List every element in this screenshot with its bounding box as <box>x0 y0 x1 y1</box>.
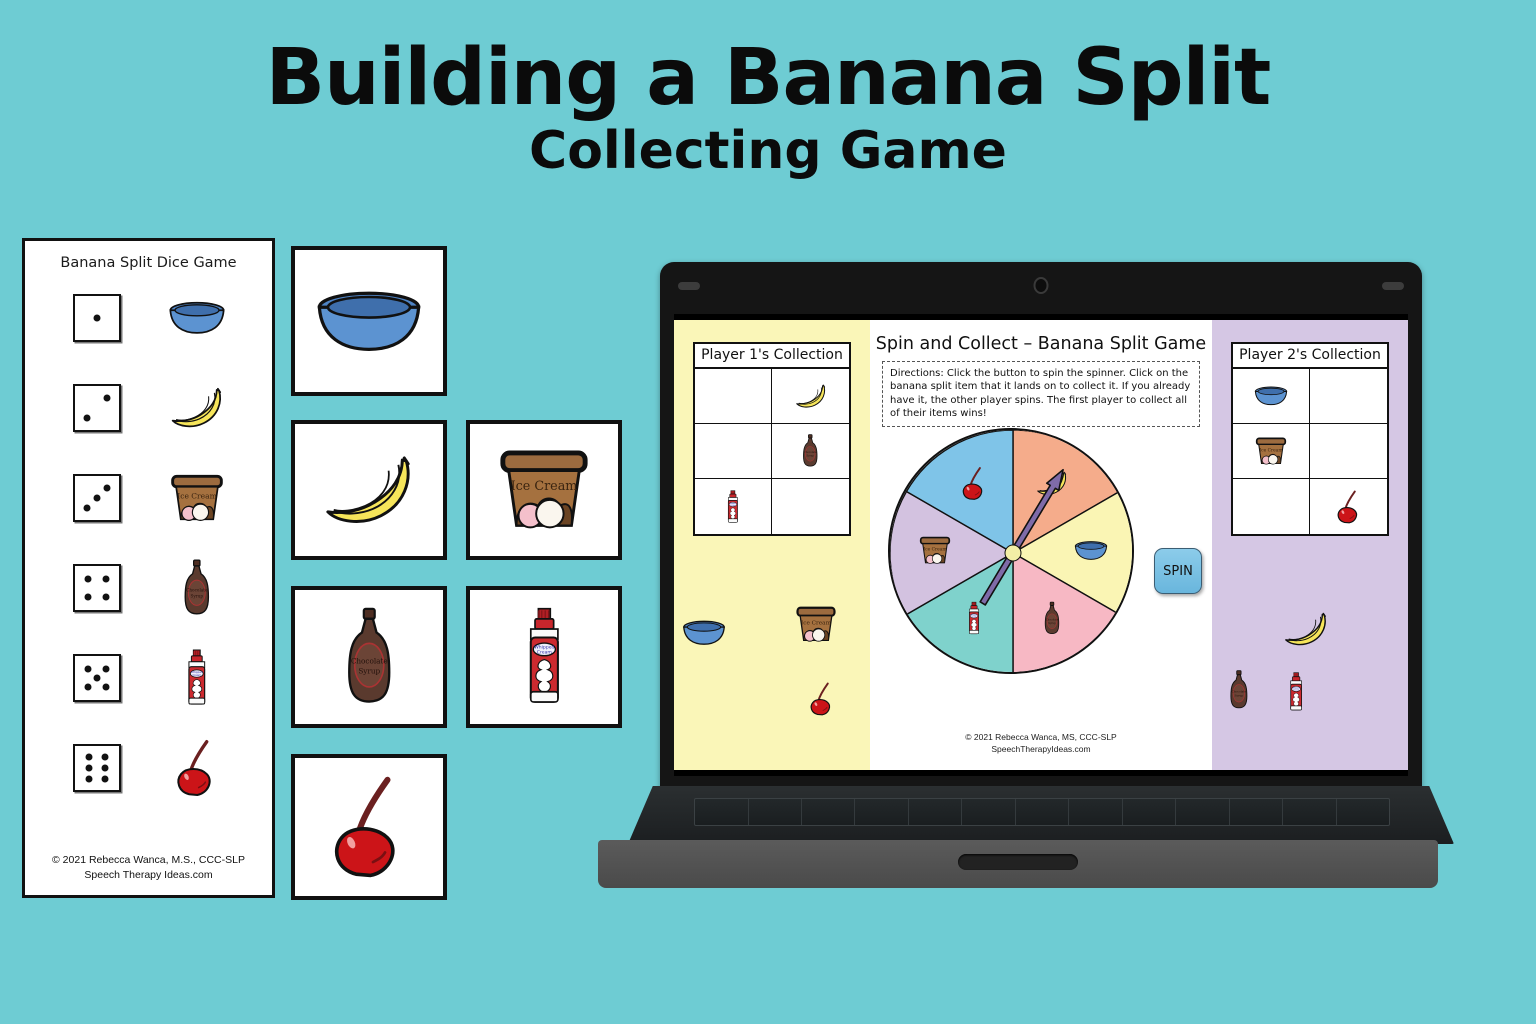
player1-loose-ice-cream[interactable] <box>794 606 838 648</box>
keyboard-key-column <box>962 799 1015 825</box>
speaker-grille-left <box>678 282 700 290</box>
keyboard-key-column <box>802 799 855 825</box>
keyboard-key-column <box>1016 799 1069 825</box>
banana-icon <box>1282 612 1330 647</box>
laptop-screen: Player 1's Collection Spin and Collect –… <box>674 314 1408 776</box>
ice-cream-icon <box>794 606 838 643</box>
spinner-icon-chocolate-syrup[interactable] <box>1043 601 1062 640</box>
laptop-lid: Player 1's Collection Spin and Collect –… <box>660 262 1422 794</box>
player2-heading: Player 2's Collection <box>1233 344 1387 369</box>
dice-row <box>25 365 272 451</box>
flash-card-banana[interactable] <box>291 420 447 560</box>
ice-cream-icon <box>168 474 226 523</box>
flash-card-cherry[interactable] <box>291 754 447 900</box>
dice-row-item-cherry <box>121 739 272 797</box>
cherry-icon <box>173 739 220 797</box>
laptop-mockup: Player 1's Collection Spin and Collect –… <box>588 262 1448 872</box>
chocolate-syrup-icon <box>1228 670 1250 710</box>
keyboard-key-column <box>749 799 802 825</box>
flash-card-chocolate-syrup[interactable] <box>291 586 447 728</box>
player2-collection-grid <box>1233 369 1387 534</box>
ice-cream-icon <box>495 449 593 531</box>
dice-game-sheet: Banana Split Dice Game © 2021 Rebecca Wa… <box>22 238 275 898</box>
die-pip <box>101 754 108 761</box>
app-credit-line-1: © 2021 Rebecca Wanca, MS, CCC-SLP <box>870 731 1212 744</box>
die-pip <box>102 593 109 600</box>
directions-box: Directions: Click the button to spin the… <box>882 361 1200 427</box>
die-face-6 <box>73 744 121 792</box>
whipped-cream-icon <box>524 607 565 707</box>
die-pip <box>102 683 109 690</box>
player1-collection-grid <box>695 369 849 534</box>
player2-loose-banana[interactable] <box>1282 612 1330 652</box>
chocolate-syrup-icon <box>801 434 820 468</box>
player1-collection-table: Player 1's Collection <box>693 342 851 536</box>
ice-cream-icon <box>1254 437 1288 466</box>
spinner-icon-bowl[interactable] <box>1074 541 1108 566</box>
player2-cell-6-cherry[interactable] <box>1310 479 1387 534</box>
spinner-icon-whipped-cream[interactable] <box>967 601 981 640</box>
keyboard-key-column <box>909 799 962 825</box>
spin-button[interactable]: SPIN <box>1154 548 1202 594</box>
app-credit: © 2021 Rebecca Wanca, MS, CCC-SLP Speech… <box>870 731 1212 757</box>
player1-loose-bowl[interactable] <box>682 620 726 651</box>
bowl-icon <box>315 290 423 353</box>
keyboard-key-column <box>695 799 748 825</box>
player2-cell-4-empty[interactable] <box>1310 424 1387 479</box>
speaker-grille-right <box>1382 282 1404 290</box>
keyboard-key-column <box>855 799 908 825</box>
die-face-5 <box>73 654 121 702</box>
dice-row-list <box>25 275 272 811</box>
player1-heading: Player 1's Collection <box>695 344 849 369</box>
die-pip <box>86 775 93 782</box>
spinner-hub <box>1005 545 1022 562</box>
player2-cell-3-ice-cream[interactable] <box>1233 424 1310 479</box>
whipped-cream-icon <box>185 649 209 707</box>
dice-sheet-credit: © 2021 Rebecca Wanca, M.S., CCC-SLP Spee… <box>25 853 272 883</box>
dice-sheet-title: Banana Split Dice Game <box>25 255 272 271</box>
keyboard-key-column <box>1283 799 1336 825</box>
dice-row-item-chocolate-syrup <box>121 559 272 617</box>
keyboard-key-column <box>1337 799 1389 825</box>
cherry-icon <box>327 775 412 879</box>
die-pip <box>84 414 91 421</box>
dice-row <box>25 635 272 721</box>
flash-card-bowl[interactable] <box>291 246 447 396</box>
keyboard-key-column <box>1230 799 1283 825</box>
banana-icon <box>794 384 828 409</box>
cherry-icon <box>1335 490 1363 524</box>
laptop-front-notch <box>958 854 1078 870</box>
dice-row-item-bowl <box>121 301 272 335</box>
spinner-area[interactable] <box>888 428 1138 678</box>
dice-row <box>25 545 272 631</box>
player1-panel: Player 1's Collection <box>674 320 870 770</box>
whipped-cream-icon <box>967 601 981 635</box>
die-pip <box>102 576 109 583</box>
game-app: Player 1's Collection Spin and Collect –… <box>674 320 1408 770</box>
dice-row <box>25 455 272 541</box>
die-pip <box>102 666 109 673</box>
die-pip <box>86 765 93 772</box>
chocolate-syrup-icon <box>342 607 397 707</box>
keyboard-key-column <box>1069 799 1122 825</box>
die-pip <box>94 315 101 322</box>
player1-cell-4-chocolate-syrup[interactable] <box>772 424 849 479</box>
cherry-icon <box>808 682 836 716</box>
page-subtitle: Collecting Game <box>0 124 1536 179</box>
die-pip <box>101 775 108 782</box>
keyboard-key-column <box>1176 799 1229 825</box>
die-pip <box>85 683 92 690</box>
bowl-icon <box>1254 386 1288 406</box>
player2-collection-table: Player 2's Collection <box>1231 342 1389 536</box>
die-pip <box>103 485 110 492</box>
laptop-keyboard-deck <box>628 786 1454 844</box>
dice-credit-line-2: Speech Therapy Ideas.com <box>25 868 272 883</box>
die-pip <box>94 675 101 682</box>
player1-cell-1-empty[interactable] <box>695 369 772 424</box>
dice-row <box>25 725 272 811</box>
die-pip <box>94 495 101 502</box>
spinner-icon-ice-cream[interactable] <box>918 536 952 570</box>
player2-panel: Player 2's Collection <box>1212 320 1408 770</box>
title-block: Building a Banana Split Collecting Game <box>0 38 1536 178</box>
player2-cell-1-bowl[interactable] <box>1233 369 1310 424</box>
chocolate-syrup-icon <box>1043 601 1062 635</box>
player1-cell-3-empty[interactable] <box>695 424 772 479</box>
dice-row <box>25 275 272 361</box>
whipped-cream-icon <box>1288 672 1304 712</box>
player2-cell-5-empty[interactable] <box>1233 479 1310 534</box>
die-face-1 <box>73 294 121 342</box>
ice-cream-icon <box>918 536 952 565</box>
player2-cell-2-empty[interactable] <box>1310 369 1387 424</box>
die-pip <box>85 593 92 600</box>
whipped-cream-icon <box>726 490 740 524</box>
player2-loose-whipped-cream[interactable] <box>1288 672 1304 717</box>
bowl-icon <box>682 620 726 646</box>
webcam-icon <box>1034 277 1049 294</box>
keyboard-area <box>694 798 1390 826</box>
player1-cell-5-whipped-cream[interactable] <box>695 479 772 534</box>
die-pip <box>86 754 93 761</box>
keyboard-key-column <box>1123 799 1176 825</box>
cherry-icon <box>960 466 988 500</box>
die-face-2 <box>73 384 121 432</box>
die-pip <box>85 576 92 583</box>
die-pip <box>101 765 108 772</box>
center-panel: Spin and Collect – Banana Split Game Dir… <box>870 320 1212 770</box>
die-pip <box>85 666 92 673</box>
banana-icon <box>168 387 226 429</box>
player2-loose-chocolate-syrup[interactable] <box>1228 670 1250 715</box>
player1-cell-6-empty[interactable] <box>772 479 849 534</box>
page-title: Building a Banana Split <box>0 38 1536 120</box>
banana-icon <box>320 455 418 526</box>
die-pip <box>103 395 110 402</box>
dice-row-item-banana <box>121 387 272 429</box>
player1-cell-2-banana[interactable] <box>772 369 849 424</box>
poster-canvas: Building a Banana Split Collecting Game … <box>0 0 1536 1024</box>
dice-credit-line-1: © 2021 Rebecca Wanca, M.S., CCC-SLP <box>25 853 272 868</box>
bowl-icon <box>1074 541 1108 561</box>
die-face-4 <box>73 564 121 612</box>
die-pip <box>84 504 91 511</box>
game-title: Spin and Collect – Banana Split Game <box>870 334 1212 354</box>
die-face-3 <box>73 474 121 522</box>
bowl-icon <box>168 301 226 335</box>
player1-loose-cherry[interactable] <box>808 682 836 721</box>
chocolate-syrup-icon <box>181 559 213 617</box>
dice-row-item-ice-cream <box>121 474 272 523</box>
app-credit-line-2: SpeechTherapyIdeas.com <box>870 743 1212 756</box>
spinner-icon-cherry[interactable] <box>960 466 988 505</box>
laptop-front-edge <box>598 840 1438 888</box>
dice-row-item-whipped-cream <box>121 649 272 707</box>
